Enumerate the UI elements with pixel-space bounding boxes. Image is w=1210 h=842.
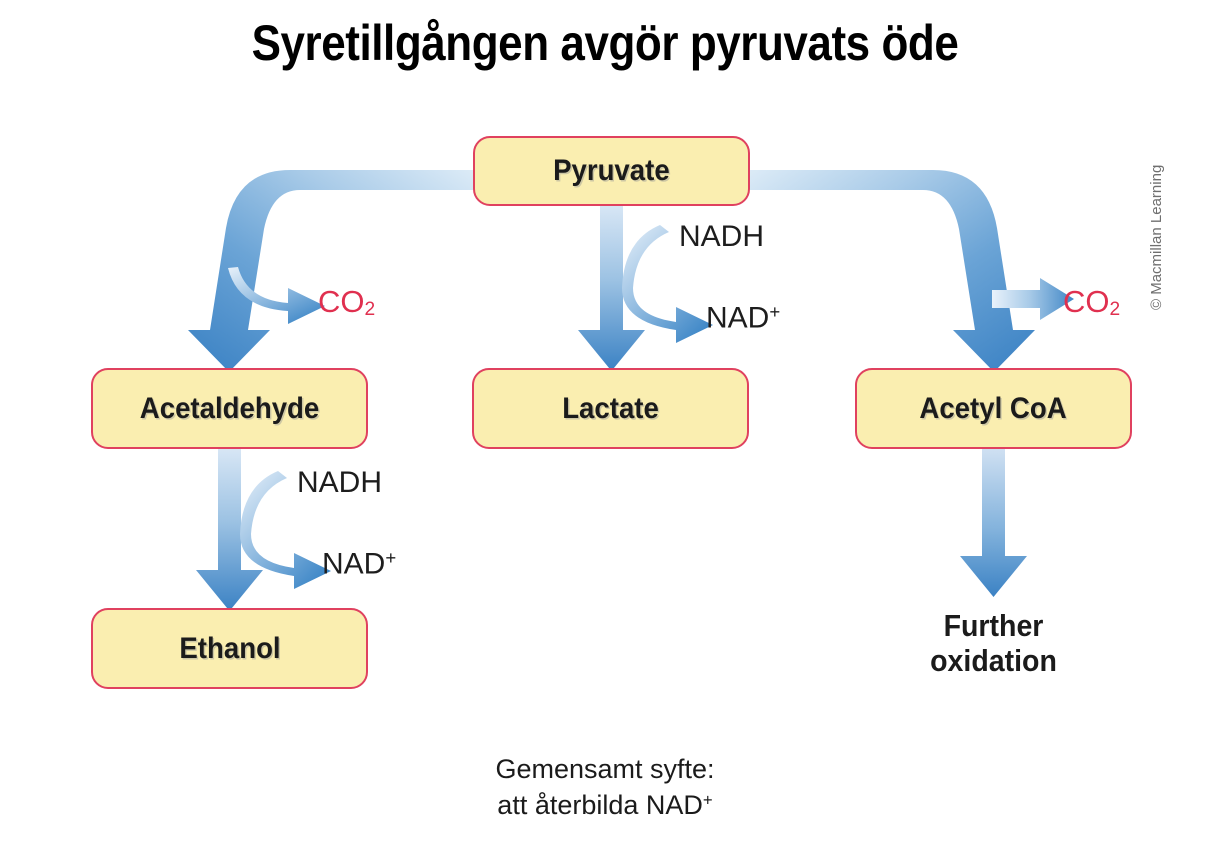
label-further-oxidation: Further oxidation [855,608,1132,679]
nad-middle-text: NAD [706,302,769,335]
node-pyruvate-label: Pyruvate [553,154,670,188]
further-oxidation-line-1: Further [866,608,1121,643]
node-acetaldehyde[interactable]: Acetaldehyde [91,368,368,449]
node-ethanol-label: Ethanol [179,632,280,666]
arrow-pyruvate-to-acetylcoa [750,170,1035,372]
label-nad-plus-left: NAD+ [322,547,396,582]
nad-middle-superscript: + [769,301,780,322]
credit-wrapper: © Macmillan Learning [1148,310,1210,328]
node-ethanol[interactable]: Ethanol [91,608,368,689]
caption-line-2-superscript: + [703,790,713,809]
node-lactate[interactable]: Lactate [472,368,749,449]
label-co2-left: CO2 [318,284,375,321]
copyright-credit: © Macmillan Learning [1148,165,1165,310]
label-nadh-left: NADH [297,466,382,500]
label-nadh-middle: NADH [679,220,764,254]
co2-left-text: CO [318,284,365,319]
node-acetaldehyde-label: Acetaldehyde [140,392,319,426]
caption-line-1: Gemensamt syfte: [0,752,1210,788]
caption-line-2-text: att återbilda NAD [497,790,703,820]
arrow-acetylcoa-to-further-oxidation [960,449,1027,597]
caption-line-2: att återbilda NAD+ [0,788,1210,824]
label-nad-plus-middle: NAD+ [706,301,780,336]
node-lactate-label: Lactate [562,392,659,426]
nad-left-text: NAD [322,548,385,581]
nad-left-superscript: + [385,547,396,568]
co2-right-subscript: 2 [1110,299,1121,320]
diagram-canvas: Syretillgången avgör pyruvats öde [0,0,1210,842]
co2-right-text: CO [1063,284,1110,319]
arrow-acetaldehyde-to-ethanol [196,449,263,611]
label-co2-right: CO2 [1063,284,1120,321]
further-oxidation-line-2: oxidation [866,643,1121,678]
arrow-pyruvate-to-lactate [578,206,645,371]
co2-left-subscript: 2 [365,299,376,320]
node-acetyl-coa-label: Acetyl CoA [920,392,1067,426]
node-pyruvate[interactable]: Pyruvate [473,136,750,206]
node-acetyl-coa[interactable]: Acetyl CoA [855,368,1132,449]
caption: Gemensamt syfte: att återbilda NAD+ [0,752,1210,823]
